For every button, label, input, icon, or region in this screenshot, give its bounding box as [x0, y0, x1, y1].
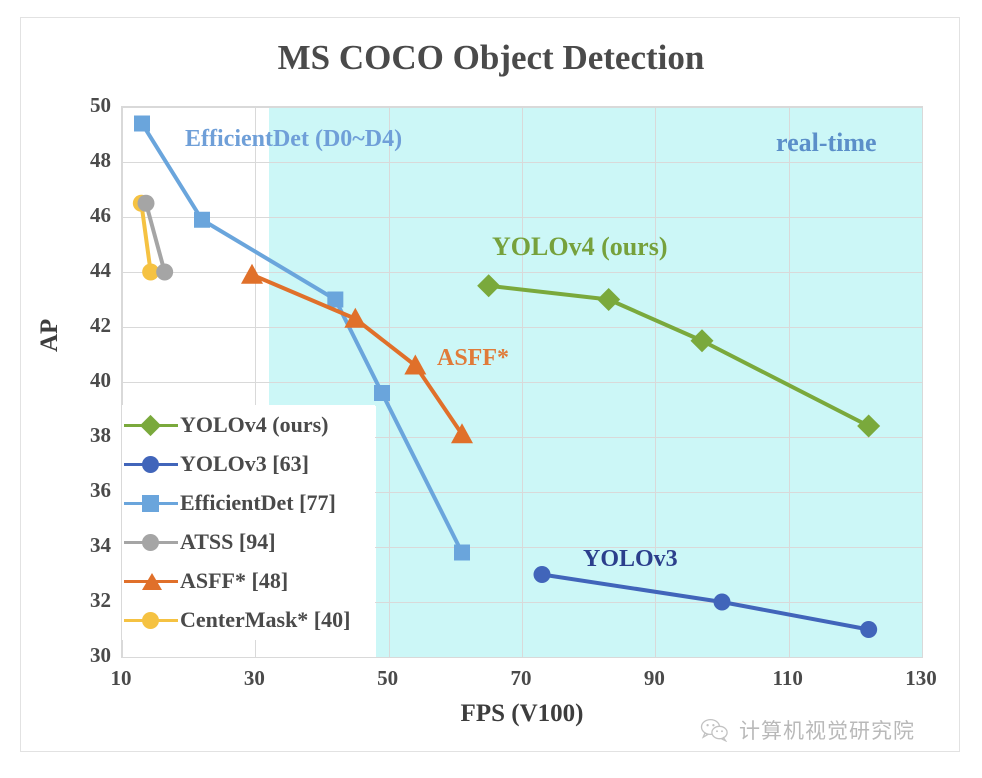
annotation-asff: ASFF* — [437, 345, 509, 372]
legend-marker — [122, 608, 180, 632]
legend-item[interactable]: ATSS [94] — [122, 522, 375, 561]
y-tick-label: 46 — [69, 203, 111, 228]
data-point-marker — [156, 264, 173, 281]
data-point-marker — [134, 116, 150, 132]
page-title: MS COCO Object Detection — [0, 38, 982, 78]
annotation-real-time: real-time — [776, 128, 877, 158]
data-point-marker — [138, 195, 155, 212]
legend-marker — [122, 491, 180, 515]
series-yolov3 — [534, 566, 878, 638]
y-tick-label: 38 — [69, 423, 111, 448]
legend-label: YOLOv3 [63] — [180, 451, 309, 477]
legend-label: ASFF* [48] — [180, 568, 288, 594]
series-line — [542, 575, 869, 630]
y-tick-label: 48 — [69, 148, 111, 173]
legend-item[interactable]: YOLOv4 (ours) — [122, 405, 375, 444]
x-tick-label: 130 — [891, 666, 951, 691]
legend: YOLOv4 (ours)YOLOv3 [63]EfficientDet [77… — [122, 405, 375, 640]
data-point-marker — [477, 274, 500, 297]
y-tick-label: 32 — [69, 588, 111, 613]
series-yolov4-ours — [477, 274, 880, 437]
legend-marker — [122, 452, 180, 476]
x-tick-label: 70 — [491, 666, 551, 691]
legend-marker-diamond-icon — [140, 414, 161, 435]
legend-label: EfficientDet [77] — [180, 490, 336, 516]
data-point-marker — [534, 566, 551, 583]
x-tick-label: 50 — [358, 666, 418, 691]
data-point-marker — [691, 329, 714, 352]
legend-marker-square-icon — [142, 495, 159, 512]
legend-label: YOLOv4 (ours) — [180, 412, 329, 438]
data-point-marker — [344, 308, 366, 328]
data-point-marker — [597, 288, 620, 311]
x-tick-label: 30 — [224, 666, 284, 691]
legend-marker — [122, 530, 180, 554]
watermark: 计算机视觉研究院 — [700, 715, 915, 745]
x-tick-label: 110 — [758, 666, 818, 691]
y-tick-label: 42 — [69, 313, 111, 338]
y-tick-label: 30 — [69, 643, 111, 668]
data-point-marker — [857, 415, 880, 438]
legend-item[interactable]: CenterMask* [40] — [122, 600, 375, 639]
legend-marker — [122, 569, 180, 593]
annotation-efficientdet: EfficientDet (D0~D4) — [185, 126, 402, 153]
data-point-marker — [454, 545, 470, 561]
data-point-marker — [194, 212, 210, 228]
legend-label: CenterMask* [40] — [180, 607, 350, 633]
data-point-marker — [327, 292, 343, 308]
figure-root: MS COCO Object Detection AP FPS (V100) 3… — [0, 0, 982, 778]
x-tick-label: 90 — [624, 666, 684, 691]
data-point-marker — [374, 385, 390, 401]
data-point-marker — [714, 594, 731, 611]
legend-marker-triangle-icon — [142, 573, 162, 590]
y-tick-label: 44 — [69, 258, 111, 283]
legend-marker-circle-icon — [142, 534, 159, 551]
y-tick-label: 50 — [69, 93, 111, 118]
y-tick-label: 40 — [69, 368, 111, 393]
legend-label: ATSS [94] — [180, 529, 276, 555]
watermark-label: 计算机视觉研究院 — [739, 715, 915, 745]
data-point-marker — [241, 264, 263, 284]
legend-marker-circle-icon — [142, 456, 159, 473]
gridline-vertical — [922, 107, 923, 657]
gridline-horizontal — [122, 657, 922, 658]
annotation-yolov3: YOLOv3 — [583, 546, 678, 573]
x-tick-label: 10 — [91, 666, 151, 691]
legend-marker — [122, 413, 180, 437]
legend-marker-circle-icon — [142, 612, 159, 629]
legend-item[interactable]: ASFF* [48] — [122, 561, 375, 600]
legend-item[interactable]: EfficientDet [77] — [122, 483, 375, 522]
y-tick-label: 36 — [69, 478, 111, 503]
series-line — [489, 286, 869, 426]
data-point-marker — [860, 621, 877, 638]
legend-item[interactable]: YOLOv3 [63] — [122, 444, 375, 483]
wechat-icon — [700, 718, 730, 742]
y-axis-label: AP — [36, 319, 64, 352]
annotation-yolov4: YOLOv4 (ours) — [492, 232, 668, 262]
y-tick-label: 34 — [69, 533, 111, 558]
